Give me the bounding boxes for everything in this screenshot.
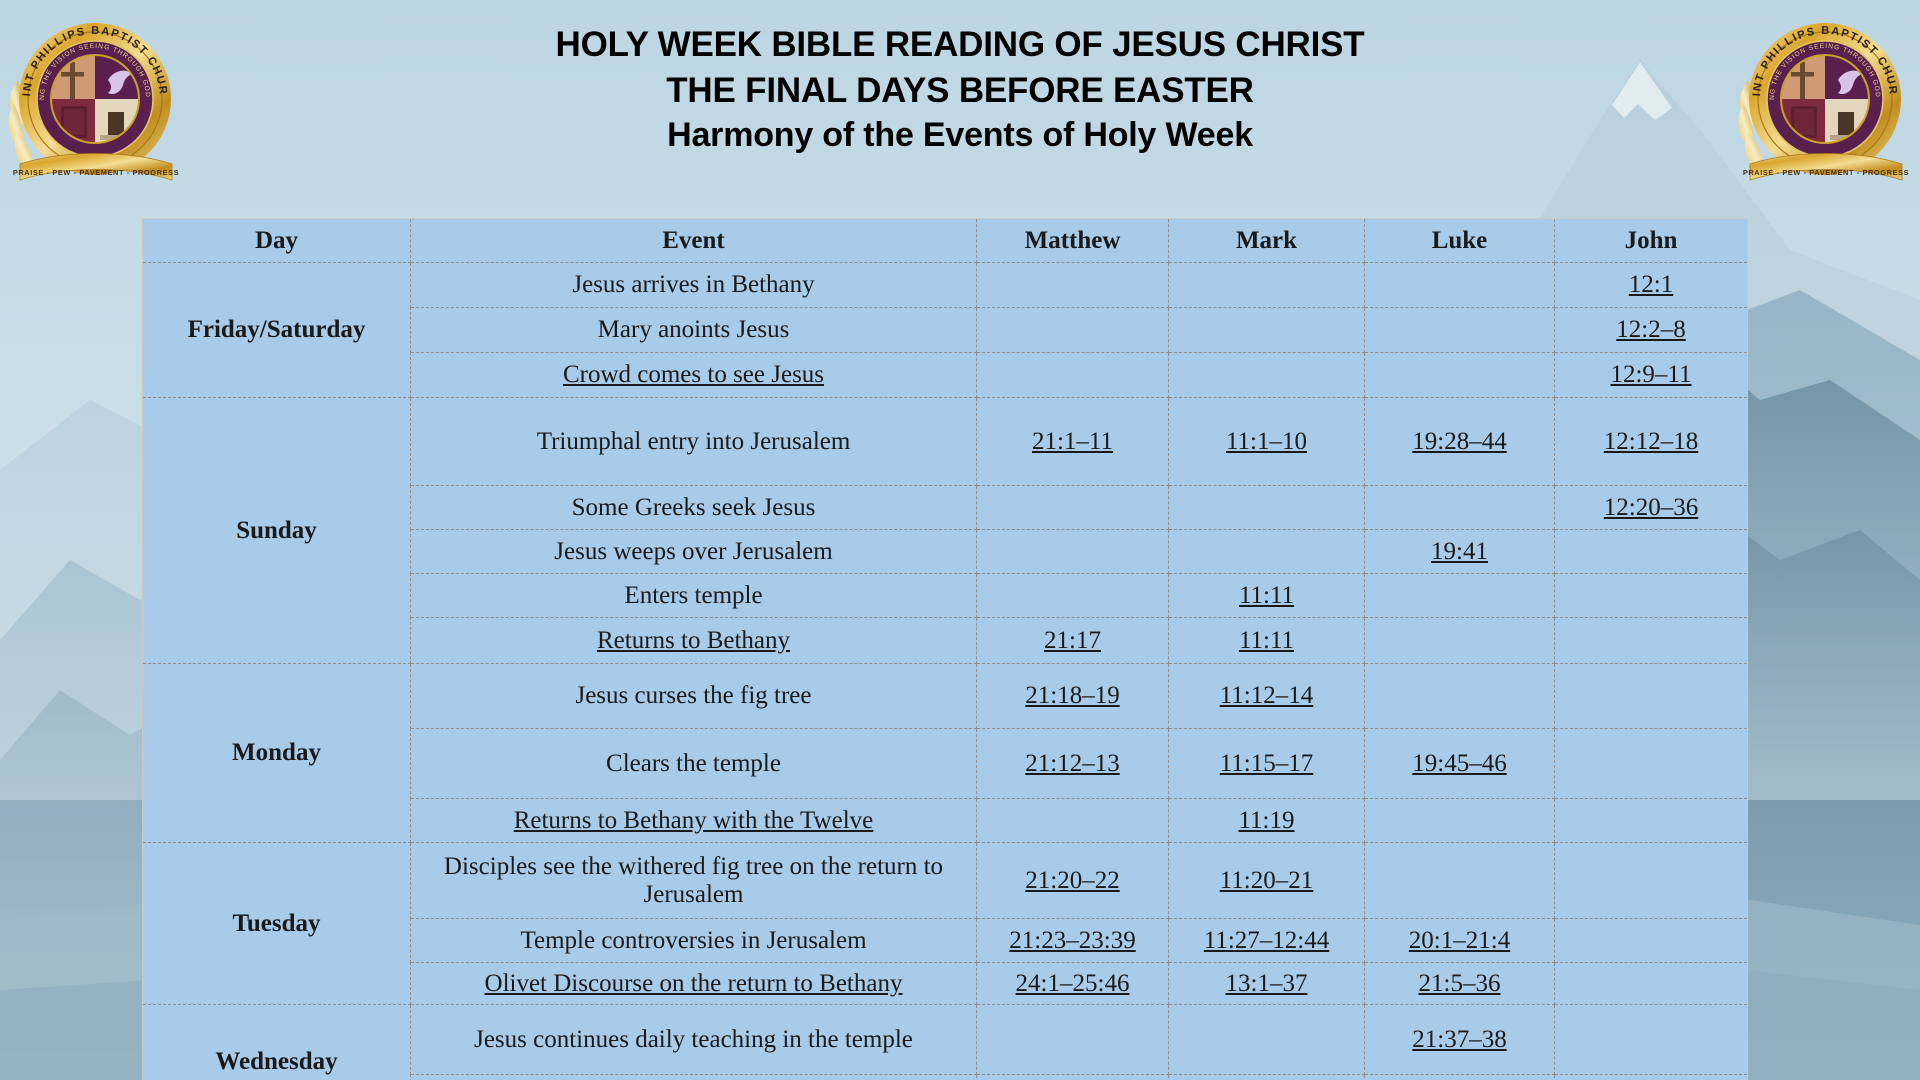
event-cell: Mary anoints Jesus <box>411 308 977 353</box>
matthew-reference-cell <box>977 353 1169 398</box>
table-body: Friday/SaturdayJesus arrives in Bethany1… <box>143 263 1748 1080</box>
matthew-reference-cell <box>977 574 1169 618</box>
luke-reference-cell <box>1365 308 1555 353</box>
mark-reference-cell <box>1169 353 1365 398</box>
mark-reference-cell: 11:11 <box>1169 574 1365 618</box>
john-reference-cell <box>1555 574 1748 618</box>
luke-reference-cell: 22:1–2 <box>1365 1075 1555 1080</box>
event-cell: Clears the temple <box>411 729 977 799</box>
luke-reference-cell <box>1365 799 1555 843</box>
day-cell: Wednesday <box>143 1005 411 1080</box>
john-reference-cell: 12:9–11 <box>1555 353 1748 398</box>
event-cell: Jesus curses the fig tree <box>411 664 977 729</box>
mark-reference-cell <box>1169 486 1365 530</box>
church-seal-icon: SAINT PHILLIPS BAPTIST CHURCH CATCHING T… <box>1734 8 1916 190</box>
church-seal-logo-right: SAINT PHILLIPS BAPTIST CHURCH CATCHING T… <box>1734 8 1916 190</box>
mark-reference-cell <box>1169 530 1365 574</box>
day-cell: Sunday <box>143 398 411 664</box>
matthew-reference-cell: 21:23–23:39 <box>977 919 1169 963</box>
matthew-reference-cell: 21:1–11 <box>977 398 1169 486</box>
event-cell: Jesus weeps over Jerusalem <box>411 530 977 574</box>
john-reference-cell <box>1555 618 1748 664</box>
luke-reference-cell <box>1365 263 1555 308</box>
mark-reference-cell <box>1169 308 1365 353</box>
mark-reference-cell: 11:12–14 <box>1169 664 1365 729</box>
table-row: TuesdayDisciples see the withered fig tr… <box>143 843 1748 919</box>
title-line-1: HOLY WEEK BIBLE READING OF JESUS CHRIST <box>300 22 1620 68</box>
event-cell: Olivet Discourse on the return to Bethan… <box>411 963 977 1005</box>
column-header-mark: Mark <box>1169 219 1365 263</box>
john-reference-cell <box>1555 799 1748 843</box>
mark-reference-cell: 11:11 <box>1169 618 1365 664</box>
luke-reference-cell: 21:37–38 <box>1365 1005 1555 1075</box>
event-cell: Temple controversies in Jerusalem <box>411 919 977 963</box>
luke-reference-cell: 20:1–21:4 <box>1365 919 1555 963</box>
john-reference-cell: 12:2–8 <box>1555 308 1748 353</box>
luke-reference-cell: 19:45–46 <box>1365 729 1555 799</box>
john-reference-cell <box>1555 963 1748 1005</box>
mark-reference-cell: 11:1–10 <box>1169 398 1365 486</box>
luke-reference-cell <box>1365 618 1555 664</box>
john-reference-cell: 12:1 <box>1555 263 1748 308</box>
matthew-reference-cell <box>977 486 1169 530</box>
column-header-day: Day <box>143 219 411 263</box>
john-reference-cell: 12:20–36 <box>1555 486 1748 530</box>
mark-reference-cell: 11:15–17 <box>1169 729 1365 799</box>
event-cell: Disciples see the withered fig tree on t… <box>411 843 977 919</box>
matthew-reference-cell <box>977 263 1169 308</box>
day-cell: Friday/Saturday <box>143 263 411 398</box>
table-row: SundayTriumphal entry into Jerusalem21:1… <box>143 398 1748 486</box>
title-line-3: Harmony of the Events of Holy Week <box>300 113 1620 157</box>
column-header-event: Event <box>411 219 977 263</box>
luke-reference-cell <box>1365 486 1555 530</box>
matthew-reference-cell: 26:3–5 <box>977 1075 1169 1080</box>
luke-reference-cell <box>1365 353 1555 398</box>
matthew-reference-cell: 21:12–13 <box>977 729 1169 799</box>
church-seal-logo-left: SAINT PHILLIPS BAPTIST CHURCH CATCHING T… <box>4 8 186 190</box>
matthew-reference-cell: 21:18–19 <box>977 664 1169 729</box>
church-seal-icon: SAINT PHILLIPS BAPTIST CHURCH CATCHING T… <box>4 8 186 190</box>
event-cell: Returns to Bethany <box>411 618 977 664</box>
column-header-matthew: Matthew <box>977 219 1169 263</box>
event-cell: Triumphal entry into Jerusalem <box>411 398 977 486</box>
event-cell: Sanhedrin plots to kill Jesus <box>411 1075 977 1080</box>
matthew-reference-cell <box>977 799 1169 843</box>
john-reference-cell <box>1555 729 1748 799</box>
table-row: MondayJesus curses the fig tree21:18–191… <box>143 664 1748 729</box>
luke-reference-cell <box>1365 574 1555 618</box>
matthew-reference-cell: 21:17 <box>977 618 1169 664</box>
matthew-reference-cell <box>977 1005 1169 1075</box>
event-cell: Jesus continues daily teaching in the te… <box>411 1005 977 1075</box>
logo-banner-text: PRAISE - PEW - PAVEMENT - PROGRESS <box>1743 168 1909 177</box>
column-header-luke: Luke <box>1365 219 1555 263</box>
event-cell: Some Greeks seek Jesus <box>411 486 977 530</box>
john-reference-cell <box>1555 1005 1748 1075</box>
event-cell: Crowd comes to see Jesus <box>411 353 977 398</box>
day-cell: Tuesday <box>143 843 411 1005</box>
john-reference-cell <box>1555 664 1748 729</box>
john-reference-cell <box>1555 1075 1748 1080</box>
table-row: WednesdayJesus continues daily teaching … <box>143 1005 1748 1075</box>
luke-reference-cell: 19:28–44 <box>1365 398 1555 486</box>
john-reference-cell <box>1555 530 1748 574</box>
mark-reference-cell: 13:1–37 <box>1169 963 1365 1005</box>
mark-reference-cell <box>1169 263 1365 308</box>
matthew-reference-cell <box>977 308 1169 353</box>
mark-reference-cell <box>1169 1005 1365 1075</box>
matthew-reference-cell <box>977 530 1169 574</box>
matthew-reference-cell: 24:1–25:46 <box>977 963 1169 1005</box>
table-header-row: Day Event Matthew Mark Luke John <box>143 219 1748 263</box>
mark-reference-cell: 11:27–12:44 <box>1169 919 1365 963</box>
title-line-2: THE FINAL DAYS BEFORE EASTER <box>300 68 1620 114</box>
luke-reference-cell <box>1365 664 1555 729</box>
luke-reference-cell <box>1365 843 1555 919</box>
mark-reference-cell: 11:19 <box>1169 799 1365 843</box>
luke-reference-cell: 21:5–36 <box>1365 963 1555 1005</box>
john-reference-cell <box>1555 919 1748 963</box>
mark-reference-cell: 14:1–2 <box>1169 1075 1365 1080</box>
event-cell: Returns to Bethany with the Twelve <box>411 799 977 843</box>
harmony-table: Day Event Matthew Mark Luke John Friday/… <box>142 218 1748 1080</box>
mark-reference-cell: 11:20–21 <box>1169 843 1365 919</box>
event-cell: Jesus arrives in Bethany <box>411 263 977 308</box>
matthew-reference-cell: 21:20–22 <box>977 843 1169 919</box>
table-header: Day Event Matthew Mark Luke John <box>143 219 1748 263</box>
day-cell: Monday <box>143 664 411 843</box>
page-title: HOLY WEEK BIBLE READING OF JESUS CHRIST … <box>300 22 1620 157</box>
event-cell: Enters temple <box>411 574 977 618</box>
john-reference-cell <box>1555 843 1748 919</box>
logo-banner-text: PRAISE - PEW - PAVEMENT - PROGRESS <box>13 168 179 177</box>
john-reference-cell: 12:12–18 <box>1555 398 1748 486</box>
harmony-table-container: Day Event Matthew Mark Luke John Friday/… <box>142 218 1747 1080</box>
table-row: Friday/SaturdayJesus arrives in Bethany1… <box>143 263 1748 308</box>
column-header-john: John <box>1555 219 1748 263</box>
luke-reference-cell: 19:41 <box>1365 530 1555 574</box>
